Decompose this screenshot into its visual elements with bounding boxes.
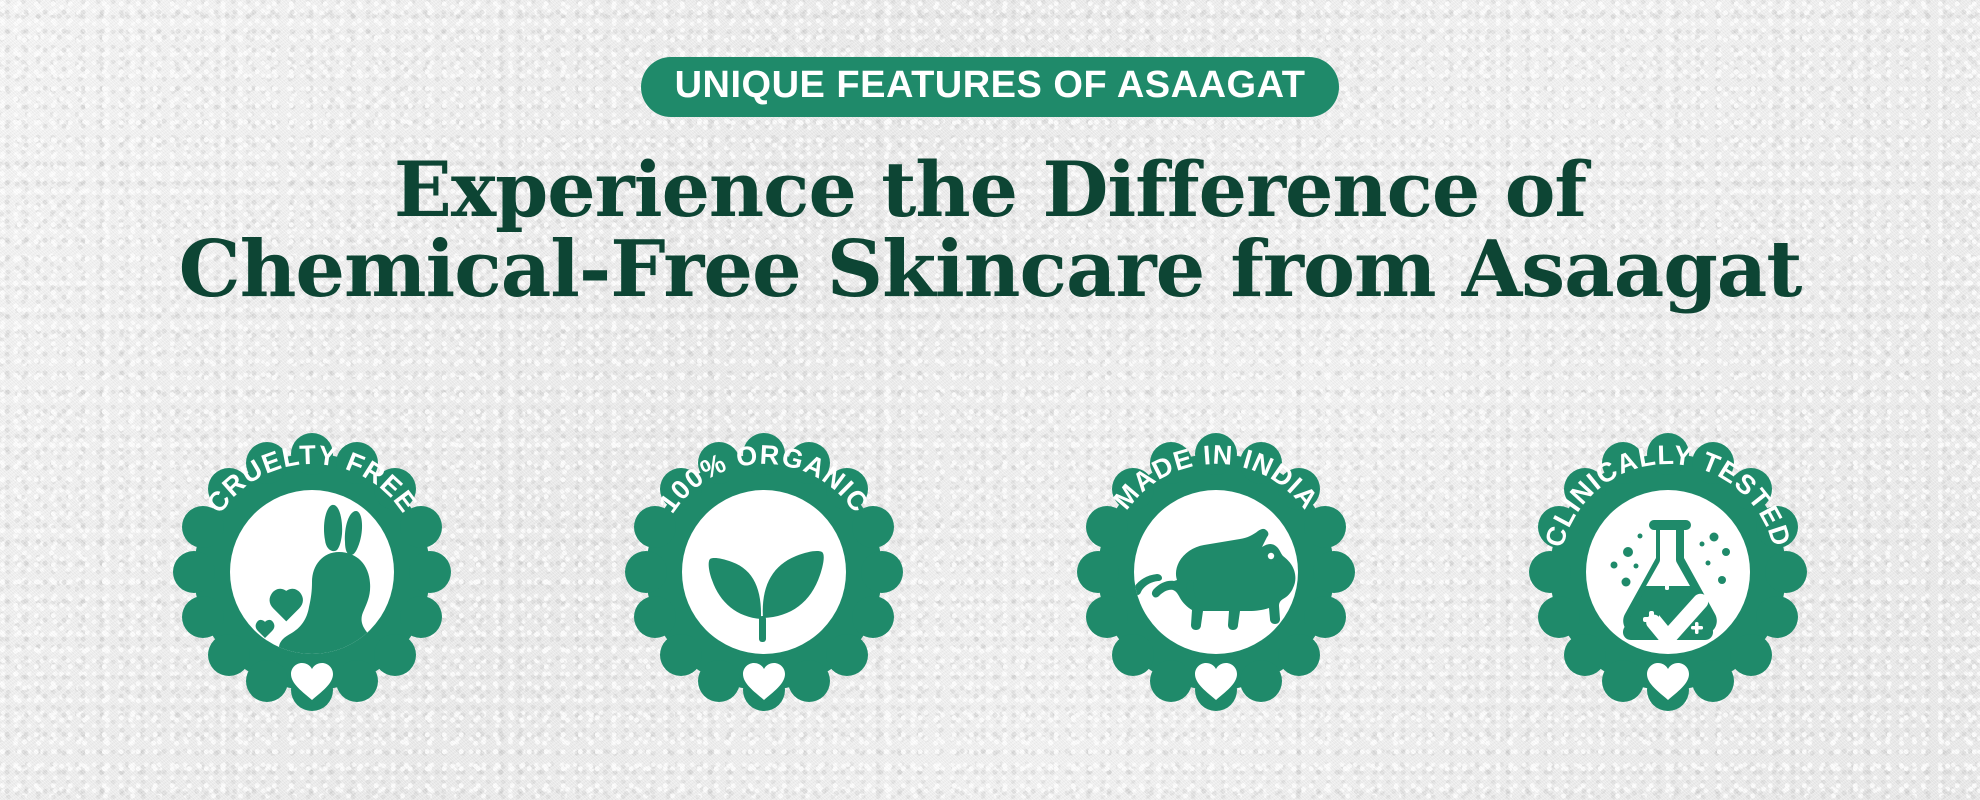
page-title: Experience the Difference of Chemical-Fr… — [0, 150, 1980, 310]
badge-made-in-india: MADE IN INDIA — [1066, 400, 1366, 720]
eyebrow-pill-badge: UNIQUE FEATURES OF ASAAGAT — [641, 57, 1340, 117]
badge-cruelty-free: CRUELTY FREE — [162, 400, 462, 720]
promo-banner: UNIQUE FEATURES OF ASAAGAT Experience th… — [0, 0, 1980, 800]
eyebrow-container: UNIQUE FEATURES OF ASAAGAT — [0, 57, 1980, 117]
badge-clinically-tested: CLINICALLY TESTED — [1518, 400, 1818, 720]
trust-badge-row: CRUELTY FREE — [0, 400, 1980, 720]
badge-organic: 100% ORGANIC — [614, 400, 914, 720]
headline-line-1: Experience the Difference of — [0, 150, 1980, 229]
headline-line-2: Chemical-Free Skincare from Asaagat — [0, 229, 1980, 310]
